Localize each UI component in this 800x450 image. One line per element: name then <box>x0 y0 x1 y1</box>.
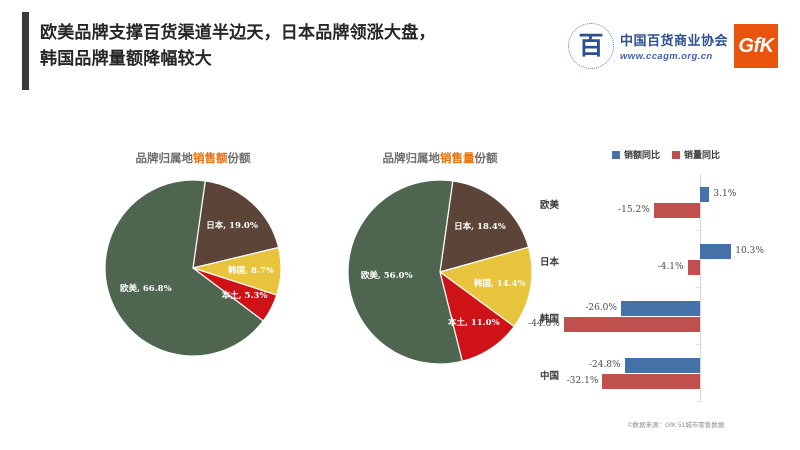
bar-segment[interactable] <box>700 244 731 259</box>
bar-segment[interactable] <box>700 187 709 202</box>
pie-chart-sales-volume: 品牌归属地销售量份额 日本, 18.4%韩国, 14.4%本土, 11.0%欧美… <box>305 150 575 390</box>
title-accent-bar <box>22 12 29 90</box>
ccagm-name: 中国百货商业协会 <box>620 30 728 49</box>
pie-svg <box>103 178 283 358</box>
page-title: 欧美品牌支撑百货渠道半边天，日本品牌领涨大盘， 韩国品牌量额降幅较大 <box>40 20 560 73</box>
slide-canvas: 欧美品牌支撑百货渠道半边天，日本品牌领涨大盘， 韩国品牌量额降幅较大 百 中国百… <box>0 0 800 450</box>
bar-segment[interactable] <box>654 203 700 218</box>
legend-item[interactable]: 销量同比 <box>672 148 720 161</box>
bar-chart-plot: 欧美3.1%-15.2%日本10.3%-4.1%韩国-26.0%-44.8%中国… <box>538 174 794 402</box>
page-title-line-1: 欧美品牌支撑百货渠道半边天，日本品牌领涨大盘， <box>40 20 560 46</box>
legend-swatch-icon <box>612 151 620 159</box>
pie-2-title: 品牌归属地销售量份额 <box>305 150 575 166</box>
pie-2-title-prefix: 品牌归属地 <box>383 151 441 165</box>
pie-2-graphic: 日本, 18.4%韩国, 14.4%本土, 11.0%欧美, 56.0% <box>346 178 534 366</box>
bar-category-group: 中国-24.8%-32.1% <box>538 345 794 402</box>
bar-value-label: 3.1% <box>713 187 736 202</box>
pie-1-graphic: 日本, 19.0%韩国, 8.7%本土, 5.3%欧美, 66.8% <box>103 178 283 358</box>
bar-segment[interactable] <box>688 260 700 275</box>
legend-label: 销额同比 <box>624 148 660 161</box>
bar-value-label: 10.3% <box>735 244 764 259</box>
bar-category-label: 日本 <box>540 254 582 268</box>
pie-1-title-prefix: 品牌归属地 <box>136 151 194 165</box>
bar-value-label: -24.8% <box>589 358 621 373</box>
legend-item[interactable]: 销额同比 <box>612 148 660 161</box>
bar-value-label: -44.8% <box>528 317 560 332</box>
bar-chart-legend: 销额同比销量同比 <box>538 148 794 161</box>
bar-category-group: 韩国-26.0%-44.8% <box>538 288 794 345</box>
axis-tick <box>696 401 702 402</box>
gfk-logo: GfK <box>734 24 778 68</box>
pie-1-title-highlight: 销售额 <box>193 151 228 165</box>
pie-1-title-suffix: 份额 <box>228 151 251 165</box>
pie-1-title: 品牌归属地销售额份额 <box>58 150 328 166</box>
bar-chart-yoy: 销额同比销量同比 欧美3.1%-15.2%日本10.3%-4.1%韩国-26.0… <box>538 148 794 410</box>
ccagm-url: www.ccagm.org.cn <box>620 51 728 62</box>
legend-label: 销量同比 <box>684 148 720 161</box>
ccagm-emblem-icon: 百 <box>568 23 614 69</box>
legend-swatch-icon <box>672 151 680 159</box>
bar-value-label: -4.1% <box>658 260 684 275</box>
bar-value-label: -32.1% <box>567 374 599 389</box>
bar-category-group: 日本10.3%-4.1% <box>538 231 794 288</box>
pie-chart-sales-value: 品牌归属地销售额份额 日本, 19.0%韩国, 8.7%本土, 5.3%欧美, … <box>58 150 328 390</box>
bar-segment[interactable] <box>602 374 700 389</box>
bar-segment[interactable] <box>621 301 700 316</box>
bar-category-label: 欧美 <box>540 197 582 211</box>
logo-group: 百 中国百货商业协会 www.ccagm.org.cn GfK <box>568 22 778 70</box>
bar-category-group: 欧美3.1%-15.2% <box>538 174 794 231</box>
ccagm-glyph: 百 <box>568 33 614 58</box>
source-note: ©数据来源：GfK 51城市零售数据 <box>560 419 792 429</box>
ccagm-text-block: 中国百货商业协会 www.ccagm.org.cn <box>620 30 728 62</box>
pie-2-title-highlight: 销售量 <box>440 151 475 165</box>
pie-svg <box>346 178 534 366</box>
bar-value-label: -15.2% <box>618 203 650 218</box>
bar-segment[interactable] <box>564 317 700 332</box>
bar-segment[interactable] <box>625 358 700 373</box>
page-title-line-2: 韩国品牌量额降幅较大 <box>40 46 560 72</box>
bar-value-label: -26.0% <box>585 301 617 316</box>
pie-2-title-suffix: 份额 <box>475 151 498 165</box>
